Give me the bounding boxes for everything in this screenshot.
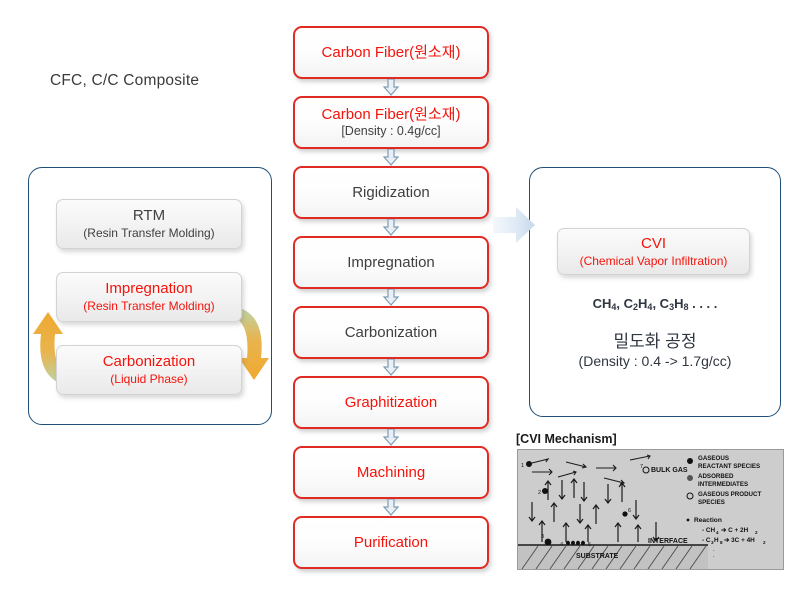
left-panel-card-subtitle: (Resin Transfer Molding)	[83, 299, 214, 313]
left-panel-card-1[interactable]: RTM(Resin Transfer Molding)	[56, 199, 242, 249]
flow-step-1[interactable]: Carbon Fiber(원소재)	[293, 26, 489, 79]
svg-text:3: 3	[541, 534, 544, 540]
densification-process-label: 밀도화 공정	[529, 327, 781, 352]
svg-text:2: 2	[538, 490, 541, 496]
svg-text:- CH: - CH	[702, 527, 716, 534]
flow-step-6[interactable]: Graphitization	[293, 376, 489, 429]
flow-step-label: Graphitization	[345, 394, 438, 412]
svg-text:GASEOUS PRODUCT: GASEOUS PRODUCT	[698, 491, 761, 498]
flow-step-label: Rigidization	[352, 184, 430, 202]
svg-text:➔ 3C + 4H: ➔ 3C + 4H	[724, 537, 755, 544]
svg-text:REACTANT SPECIES: REACTANT SPECIES	[698, 463, 760, 470]
mechanism-caption: [CVI Mechanism]	[516, 432, 617, 446]
page-title: CFC, C/C Composite	[50, 72, 199, 90]
flow-step-label: Machining	[357, 464, 425, 482]
flow-step-label: Carbonization	[345, 324, 438, 342]
cvi-card[interactable]: CVI (Chemical Vapor Infiltration)	[557, 228, 750, 275]
flow-step-3[interactable]: Rigidization	[293, 166, 489, 219]
flow-step-8[interactable]: Purification	[293, 516, 489, 569]
cvi-panel	[529, 167, 781, 417]
svg-text:5: 5	[588, 542, 591, 548]
arrow-down-icon	[382, 289, 400, 306]
svg-text:2: 2	[755, 530, 758, 535]
svg-text:1: 1	[521, 463, 524, 469]
svg-text:SPECIES: SPECIES	[698, 499, 725, 506]
flow-step-sublabel: [Density : 0.4g/cc]	[341, 124, 440, 139]
svg-text:7: 7	[640, 464, 643, 470]
flow-step-label: Carbon Fiber(원소재)	[322, 44, 461, 62]
left-panel-card-3[interactable]: Carbonization(Liquid Phase)	[56, 345, 242, 395]
svg-text:4: 4	[560, 542, 563, 548]
arrow-down-icon	[382, 219, 400, 236]
flow-step-label: Impregnation	[347, 254, 435, 272]
svg-text:4: 4	[716, 530, 719, 535]
flow-step-4[interactable]: Impregnation	[293, 236, 489, 289]
flow-step-label: Purification	[354, 534, 428, 552]
diagram-canvas: CFC, C/C Composite	[0, 0, 800, 598]
svg-text:H: H	[714, 537, 719, 544]
arrow-down-icon	[382, 359, 400, 376]
arrow-down-icon	[382, 149, 400, 166]
flow-step-2[interactable]: Carbon Fiber(원소재)[Density : 0.4g/cc]	[293, 96, 489, 149]
svg-text:INTERMEDIATES: INTERMEDIATES	[698, 481, 748, 488]
arrow-down-icon	[382, 429, 400, 446]
density-range-label: (Density : 0.4 -> 1.7g/cc)	[529, 353, 781, 369]
left-panel-card-2[interactable]: Impregnation(Resin Transfer Molding)	[56, 272, 242, 322]
flow-step-5[interactable]: Carbonization	[293, 306, 489, 359]
left-panel-card-title: Impregnation	[105, 280, 193, 298]
left-panel-card-subtitle: (Liquid Phase)	[110, 372, 187, 386]
cvi-card-title: CVI	[641, 235, 666, 253]
svg-text:BULK GAS: BULK GAS	[651, 467, 688, 474]
svg-text:8: 8	[720, 540, 723, 545]
left-panel-card-title: RTM	[133, 207, 165, 225]
left-panel-card-title: Carbonization	[103, 353, 196, 371]
arrow-right-icon	[492, 204, 536, 246]
svg-text:Reaction: Reaction	[694, 517, 722, 524]
svg-text:GASEOUS: GASEOUS	[698, 455, 729, 462]
svg-text:ADSORBED: ADSORBED	[698, 473, 734, 480]
arrow-down-icon	[382, 79, 400, 96]
cvi-card-subtitle: (Chemical Vapor Infiltration)	[580, 254, 728, 268]
svg-text:➔ C + 2H: ➔ C + 2H	[721, 527, 749, 534]
arrow-down-icon	[382, 499, 400, 516]
svg-text:6: 6	[628, 508, 631, 514]
left-panel-card-subtitle: (Resin Transfer Molding)	[83, 226, 214, 240]
flow-step-7[interactable]: Machining	[293, 446, 489, 499]
svg-text:2: 2	[763, 540, 766, 545]
svg-text:- C: - C	[702, 537, 711, 544]
precursor-gas-formula: CH4, C2H4, C3H8 . . . .	[529, 296, 781, 312]
svg-text:INTERFACE: INTERFACE	[648, 538, 688, 545]
flow-step-label: Carbon Fiber(원소재)	[322, 106, 461, 124]
svg-text:SUBSTRATE: SUBSTRATE	[576, 553, 619, 560]
cvi-mechanism-figure: 1 2 3 4 5 6 7 BULK GAS INTERFACE SUBSTRA…	[517, 449, 784, 570]
